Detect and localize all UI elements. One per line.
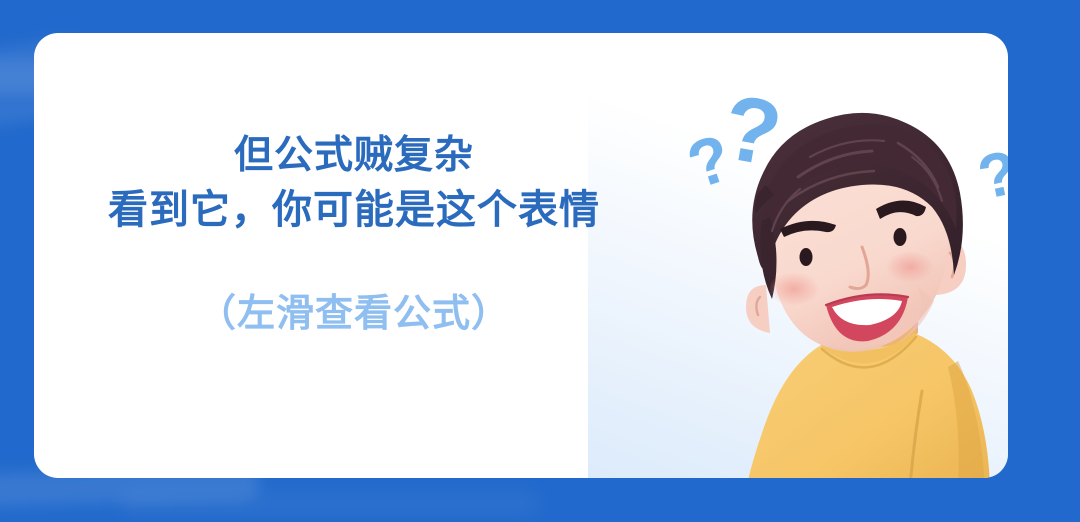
swipe-hint-text: （左滑查看公式） xyxy=(34,289,674,339)
background-blob-bottom-streak-secondary xyxy=(120,490,540,516)
text-block: 但公式贼复杂 看到它，你可能是这个表情 （左滑查看公式） xyxy=(34,129,674,339)
content-card: 但公式贼复杂 看到它，你可能是这个表情 （左滑查看公式） ? ? ? ? ? xyxy=(34,33,1008,478)
poster-canvas: 但公式贼复杂 看到它，你可能是这个表情 （左滑查看公式） ? ? ? ? ? xyxy=(0,0,1080,522)
headline-line-1: 但公式贼复杂 xyxy=(34,129,674,183)
confused-boy-illustration xyxy=(722,61,1008,478)
headline-line-2: 看到它，你可能是这个表情 xyxy=(34,183,674,237)
